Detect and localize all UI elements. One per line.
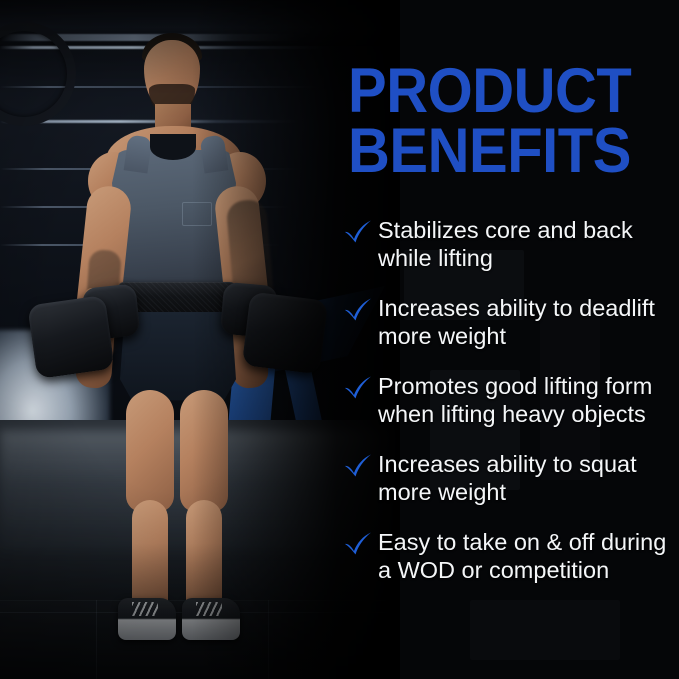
benefit-item: Promotes good lifting form when lifting … — [344, 372, 679, 428]
shoe-laces — [132, 602, 158, 616]
page-title: PRODUCT BENEFITS — [348, 62, 631, 182]
benefit-item: Easy to take on & off during a WOD or co… — [344, 528, 679, 584]
benefit-text: Easy to take on & off during a WOD or co… — [378, 529, 666, 583]
athlete-right-thigh — [180, 390, 228, 512]
dumbbell — [242, 292, 328, 375]
benefits-panel: PRODUCT BENEFITS Stabilizes core and bac… — [340, 0, 679, 679]
benefits-list: Stabilizes core and back while lifting I… — [344, 216, 679, 606]
athlete-right-calf — [186, 500, 222, 610]
athlete-left-calf — [132, 500, 168, 610]
benefit-item: Increases ability to squat more weight — [344, 450, 679, 506]
shoe-laces — [196, 602, 222, 616]
benefit-text: Increases ability to squat more weight — [378, 451, 637, 505]
benefit-item: Stabilizes core and back while lifting — [344, 216, 679, 272]
benefit-text: Increases ability to deadlift more weigh… — [378, 295, 655, 349]
dumbbell — [27, 295, 115, 379]
check-icon — [344, 454, 372, 478]
product-benefits-graphic: PRODUCT BENEFITS Stabilizes core and bac… — [0, 0, 679, 679]
check-icon — [344, 376, 372, 400]
check-icon — [344, 298, 372, 322]
check-icon — [344, 220, 372, 244]
athlete-left-shoe — [118, 598, 176, 640]
tank-pocket — [182, 202, 212, 226]
athlete-right-shoe — [182, 598, 240, 640]
check-icon — [344, 532, 372, 556]
benefit-text: Promotes good lifting form when lifting … — [378, 373, 652, 427]
athlete-left-thigh — [126, 390, 174, 512]
tank-neckline — [150, 134, 196, 160]
benefit-item: Increases ability to deadlift more weigh… — [344, 294, 679, 350]
benefit-text: Stabilizes core and back while lifting — [378, 217, 633, 271]
tank-strap — [124, 135, 153, 174]
